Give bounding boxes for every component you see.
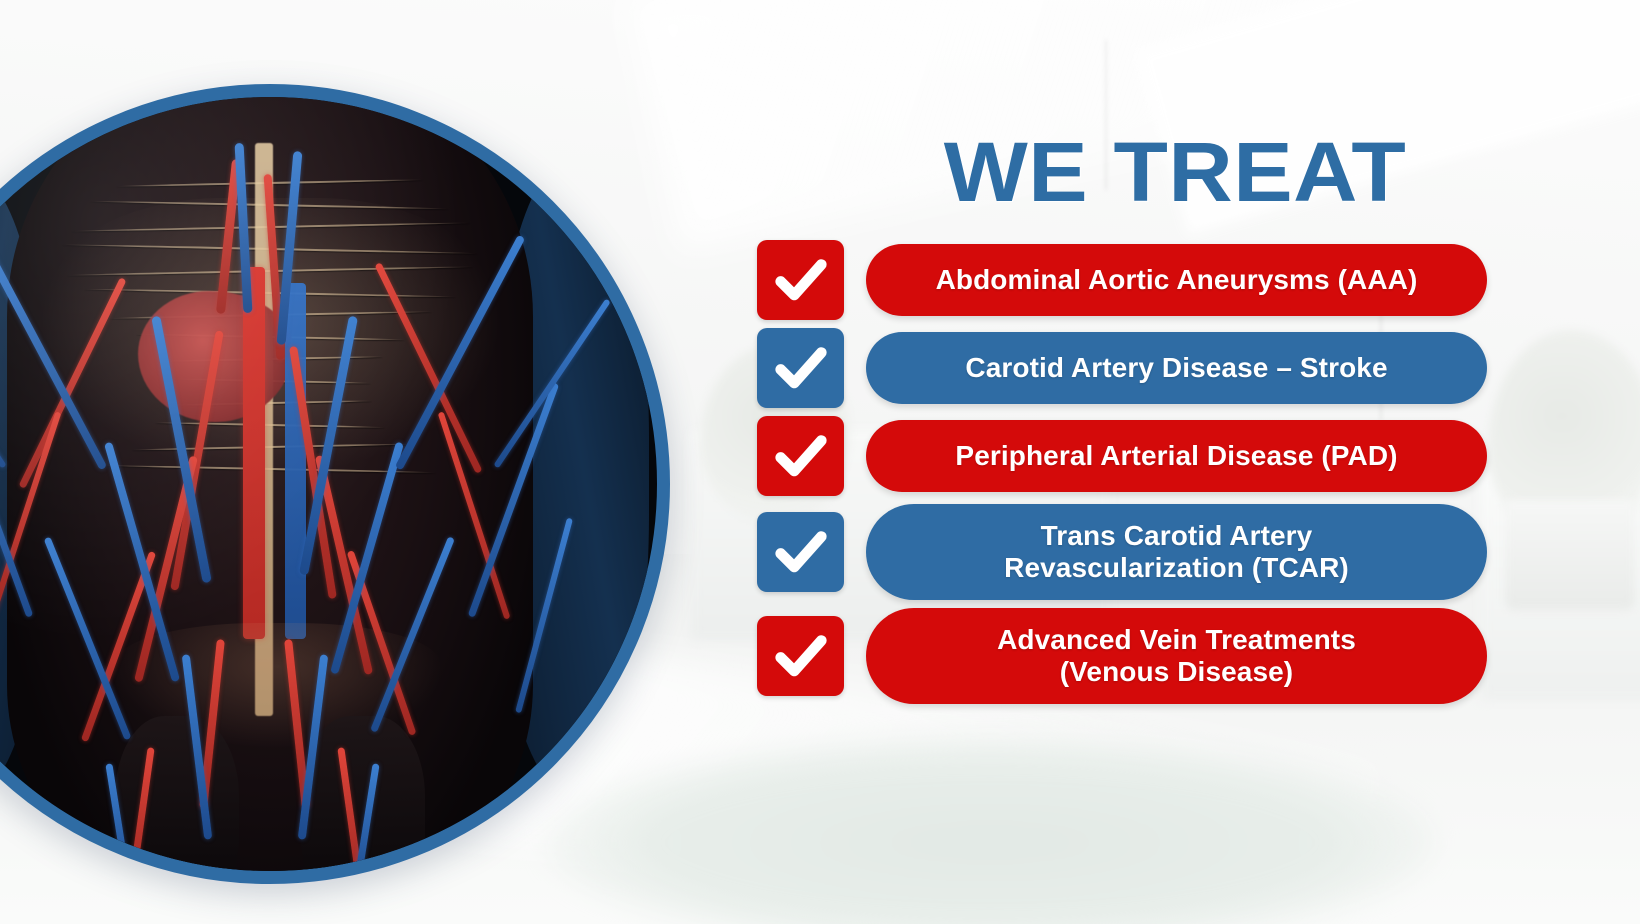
- treatment-checkbox[interactable]: [757, 416, 844, 496]
- check-icon: [772, 427, 830, 485]
- treatment-label-line: Advanced Vein Treatments: [997, 624, 1356, 656]
- treatment-checkbox[interactable]: [757, 240, 844, 320]
- treatment-label-line: Carotid Artery Disease – Stroke: [965, 352, 1387, 384]
- treatment-label-text: Peripheral Arterial Disease (PAD): [955, 440, 1397, 472]
- treatment-label-text: Advanced Vein Treatments(Venous Disease): [997, 624, 1356, 688]
- treatment-row[interactable]: Abdominal Aortic Aneurysms (AAA): [757, 240, 1487, 320]
- treatment-label-line: Revascularization (TCAR): [1004, 552, 1349, 584]
- treatment-label-pill[interactable]: Abdominal Aortic Aneurysms (AAA): [866, 244, 1487, 316]
- treatment-checkbox[interactable]: [757, 512, 844, 592]
- treatment-label-text: Trans Carotid ArteryRevascularization (T…: [1004, 520, 1349, 584]
- treatment-row[interactable]: Trans Carotid ArteryRevascularization (T…: [757, 504, 1487, 600]
- treatment-row[interactable]: Peripheral Arterial Disease (PAD): [757, 416, 1487, 496]
- treatment-label-pill[interactable]: Peripheral Arterial Disease (PAD): [866, 420, 1487, 492]
- page-title: WE TREAT: [846, 130, 1503, 214]
- check-icon: [772, 627, 830, 685]
- check-icon: [772, 523, 830, 581]
- background-planter: [1505, 500, 1635, 610]
- treatment-row[interactable]: Advanced Vein Treatments(Venous Disease): [757, 608, 1487, 704]
- treatment-label-line: Peripheral Arterial Disease (PAD): [955, 440, 1397, 472]
- treatment-label-pill[interactable]: Trans Carotid ArteryRevascularization (T…: [866, 504, 1487, 600]
- treatment-label-text: Carotid Artery Disease – Stroke: [965, 352, 1387, 384]
- anatomy-highlight: [0, 97, 657, 871]
- treatment-label-pill[interactable]: Carotid Artery Disease – Stroke: [866, 332, 1487, 404]
- vascular-system-illustration: [0, 97, 657, 871]
- treatment-label-line: Trans Carotid Artery: [1004, 520, 1349, 552]
- treatment-row[interactable]: Carotid Artery Disease – Stroke: [757, 328, 1487, 408]
- treatment-label-pill[interactable]: Advanced Vein Treatments(Venous Disease): [866, 608, 1487, 704]
- treatment-label-text: Abdominal Aortic Aneurysms (AAA): [936, 264, 1418, 296]
- anatomy-image-container: [0, 84, 670, 884]
- treatment-checkbox[interactable]: [757, 616, 844, 696]
- treatment-list: Abdominal Aortic Aneurysms (AAA)Carotid …: [757, 240, 1487, 704]
- treatment-label-line: (Venous Disease): [997, 656, 1356, 688]
- treatment-label-line: Abdominal Aortic Aneurysms (AAA): [936, 264, 1418, 296]
- treatment-checkbox[interactable]: [757, 328, 844, 408]
- check-icon: [772, 251, 830, 309]
- check-icon: [772, 339, 830, 397]
- we-treat-panel: WE TREAT Abdominal Aortic Aneurysms (AAA…: [757, 130, 1487, 712]
- anatomy-circle-frame: [0, 84, 670, 884]
